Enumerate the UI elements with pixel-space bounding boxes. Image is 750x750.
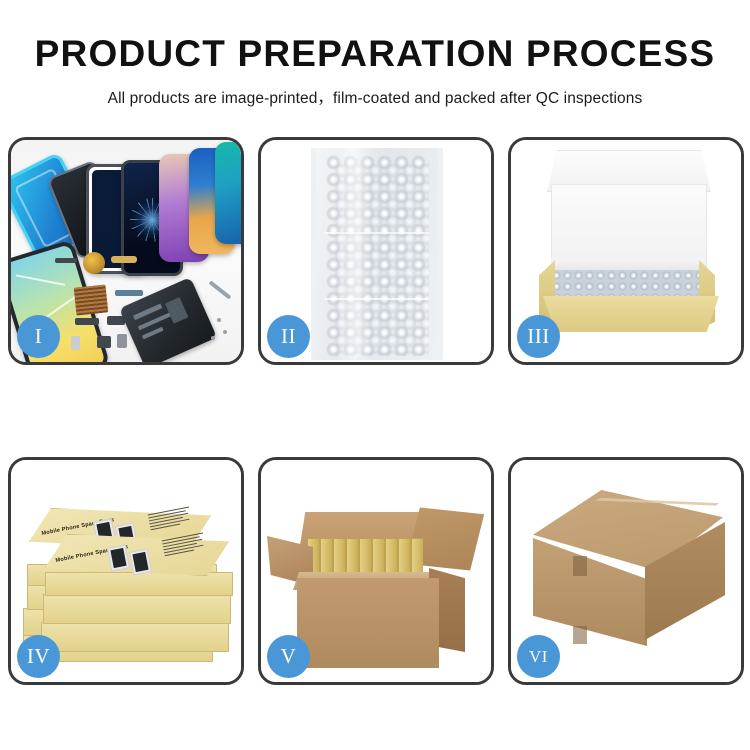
page-subtitle: All products are image-printed，film-coat…: [0, 86, 750, 108]
process-step-4: Mobile Phone Spare Parts Mobile Phone Sp…: [8, 457, 244, 685]
bracket-part-icon: [75, 318, 99, 325]
screw-icon: [217, 318, 221, 322]
antenna-part-icon: [115, 290, 143, 296]
step-badge-3: III: [517, 315, 560, 358]
step-badge-6: VI: [517, 635, 560, 678]
screw-icon: [211, 336, 215, 340]
step-badge-4: IV: [17, 635, 60, 678]
box-front-panel-icon: [543, 296, 719, 332]
teal-phone-icon: [215, 142, 241, 244]
flex-cable-icon: [111, 256, 137, 263]
chip-part-icon: [74, 284, 109, 315]
step-badge-1: I: [17, 315, 60, 358]
taptic-part-icon: [97, 336, 111, 348]
step-badge-2: II: [267, 315, 310, 358]
process-step-5: V: [258, 457, 494, 685]
carton-seam-tab-icon: [573, 626, 587, 644]
tweezers-icon: [209, 280, 232, 299]
carton-front-panel-icon: [297, 578, 439, 668]
screw-icon: [223, 330, 227, 334]
process-step-2: II: [258, 137, 494, 365]
connector-part-icon: [55, 258, 77, 263]
header: PRODUCT PREPARATION PROCESS All products…: [0, 0, 750, 108]
page-title: PRODUCT PREPARATION PROCESS: [0, 34, 750, 75]
process-step-3: III: [508, 137, 744, 365]
battery-connector-icon: [117, 334, 127, 348]
bubble-wrap-icon: [311, 148, 443, 360]
bubble-wrapped-items-icon: [551, 270, 709, 298]
speaker-part-icon: [83, 252, 105, 274]
sim-tray-icon: [71, 336, 80, 350]
step-badge-5: V: [267, 635, 310, 678]
process-step-1: I: [8, 137, 244, 365]
product-preparation-infographic: PRODUCT PREPARATION PROCESS All products…: [0, 0, 750, 750]
carton-seam-tab-icon: [573, 556, 587, 576]
process-step-6: VI: [508, 457, 744, 685]
process-step-grid: I II: [8, 137, 742, 685]
